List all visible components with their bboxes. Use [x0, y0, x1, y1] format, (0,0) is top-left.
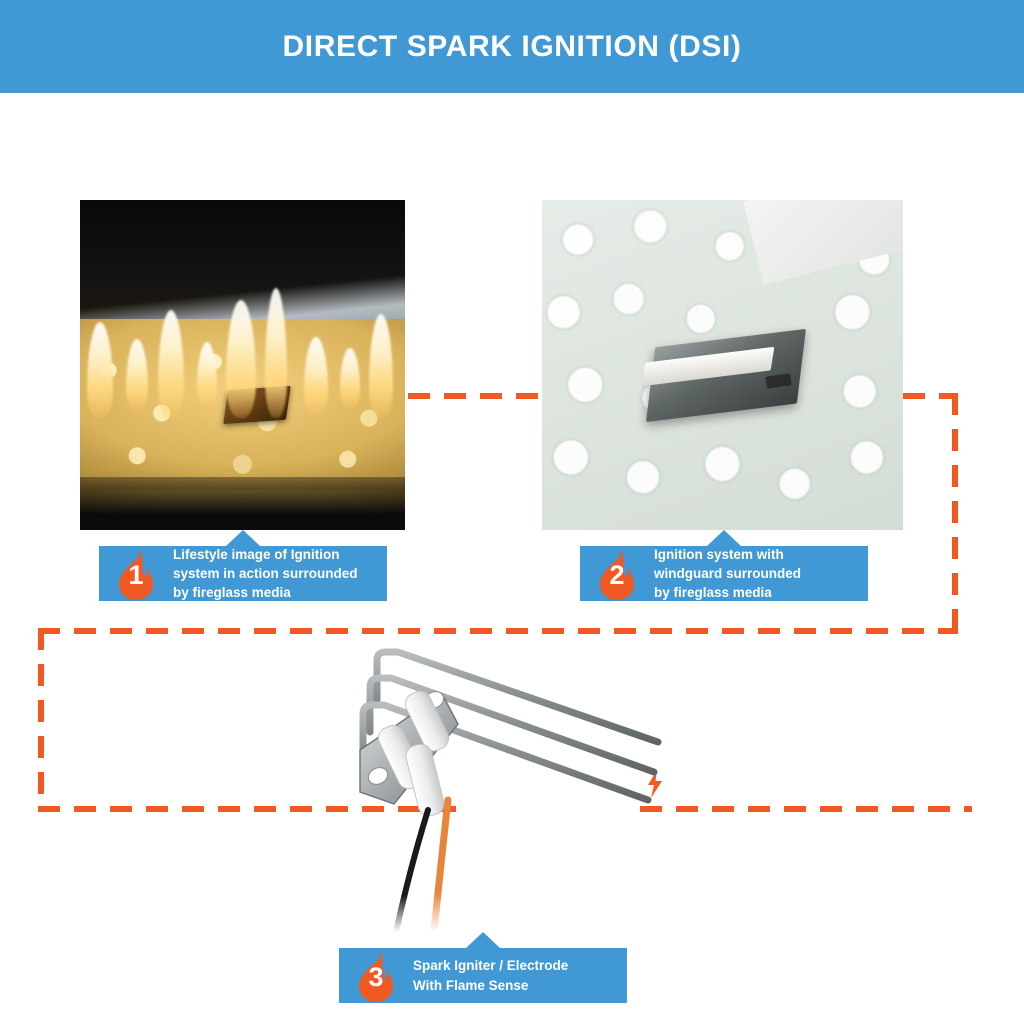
caption-1-line-3: by fireglass media [173, 583, 358, 602]
step-1-number: 1 [128, 562, 143, 589]
page-title: DIRECT SPARK IGNITION (DSI) [283, 30, 742, 64]
photo1-foreground-shadow [80, 477, 405, 530]
caption-1-pointer [226, 530, 260, 546]
step-2-badge: 2 [594, 547, 640, 601]
step-3-badge: 3 [353, 949, 399, 1003]
caption-2-text: Ignition system with windguard surrounde… [654, 545, 811, 602]
caption-3-pointer [466, 932, 500, 948]
caption-1-line-1: Lifestyle image of Ignition [173, 545, 358, 564]
caption-2-line-2: windguard surrounded [654, 564, 801, 583]
connector-right-vertical [952, 393, 958, 634]
connector-left-vertical [38, 628, 44, 812]
caption-box-2[interactable]: 2 Ignition system with windguard surroun… [580, 546, 868, 601]
caption-2-line-1: Ignition system with [654, 545, 801, 564]
caption-box-1[interactable]: 1 Lifestyle image of Ignition system in … [99, 546, 387, 601]
connector-photo2-right [903, 393, 958, 399]
photo-fire-pit-lifestyle [80, 200, 405, 530]
caption-3-line-2: With Flame Sense [413, 976, 568, 995]
connector-photo1-to-photo2 [408, 393, 542, 399]
caption-1-line-2: system in action surrounded [173, 564, 358, 583]
connector-bottom-rail-right [640, 806, 972, 812]
step-2-number: 2 [609, 562, 624, 589]
caption-3-line-1: Spark Igniter / Electrode [413, 956, 568, 975]
lead-wires [396, 800, 448, 932]
step-3-number: 3 [368, 964, 383, 991]
header-banner: DIRECT SPARK IGNITION (DSI) [0, 0, 1024, 93]
photo-spark-igniter-electrode [336, 632, 676, 932]
caption-2-pointer [707, 530, 741, 546]
caption-2-line-3: by fireglass media [654, 583, 801, 602]
caption-3-text: Spark Igniter / Electrode With Flame Sen… [413, 956, 578, 994]
step-1-badge: 1 [113, 547, 159, 601]
infographic-page: DIRECT SPARK IGNITION (DSI) [0, 0, 1024, 1024]
caption-1-text: Lifestyle image of Ignition system in ac… [173, 545, 368, 602]
photo-windguard-in-fireglass [542, 200, 903, 530]
caption-box-3[interactable]: 3 Spark Igniter / Electrode With Flame S… [339, 948, 627, 1003]
